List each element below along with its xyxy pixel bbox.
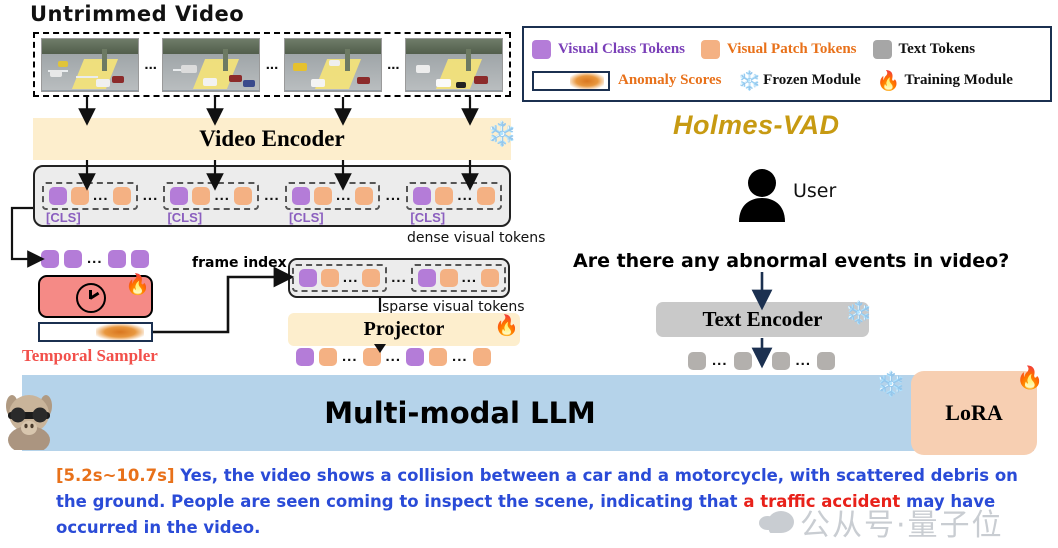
legend-box: Visual Class Tokens Visual Patch Tokens … — [522, 26, 1052, 102]
temporal-sampler-label: Temporal Sampler — [22, 346, 158, 366]
visual-patch-token — [440, 269, 458, 287]
legend-swatch-gray — [873, 40, 892, 59]
legend-row: Anomaly Scores ❄️ Frozen Module 🔥 Traini… — [532, 65, 1042, 96]
visual-class-token — [41, 250, 59, 268]
visual-patch-token — [321, 269, 339, 287]
video-frame — [162, 38, 260, 92]
visual-patch-token — [477, 187, 495, 205]
token-ellipsis: ... — [214, 187, 230, 205]
dense-visual-tokens-container: ... [CLS] ... ... [CLS] ... ... [CLS] ..… — [33, 165, 511, 227]
projector-output-token-row: ... ... ... — [296, 348, 491, 366]
video-encoder-block: Video Encoder — [33, 118, 511, 160]
cls-label: [CLS] — [289, 210, 324, 225]
llama-icon — [0, 388, 60, 450]
legend-item-training-module: 🔥 Training Module — [877, 69, 1013, 93]
frame-ellipsis: ... — [144, 56, 157, 73]
user-question: Are there any abnormal events in video? — [573, 250, 1009, 272]
group-ellipsis: ... — [264, 187, 280, 205]
text-token — [817, 352, 835, 370]
token-group: ... [CLS] — [285, 182, 381, 210]
legend-label: Training Module — [904, 72, 1013, 89]
projector-block: Projector — [288, 313, 520, 346]
fire-icon: 🔥 — [494, 313, 519, 338]
visual-patch-token — [363, 348, 381, 366]
legend-label: Visual Patch Tokens — [727, 41, 857, 58]
visual-class-token — [49, 187, 67, 205]
visual-patch-token — [319, 348, 337, 366]
video-frame — [284, 38, 382, 92]
legend-item-anomaly-scores: Anomaly Scores — [532, 71, 721, 91]
group-ellipsis: ... — [391, 269, 407, 287]
visual-class-token — [108, 250, 126, 268]
user-label: User — [793, 180, 836, 202]
legend-row: Visual Class Tokens Visual Patch Tokens … — [532, 34, 1042, 65]
snowflake-icon: ❄️ — [876, 370, 906, 399]
visual-patch-token — [113, 187, 131, 205]
legend-label: Frozen Module — [763, 72, 861, 89]
token-ellipsis: ... — [796, 352, 812, 370]
visual-patch-token — [192, 187, 210, 205]
visual-patch-token — [71, 187, 89, 205]
visual-patch-token — [234, 187, 252, 205]
visual-class-token — [131, 250, 149, 268]
visual-patch-token — [435, 187, 453, 205]
text-encoder-label: Text Encoder — [703, 307, 823, 332]
token-ellipsis: ... — [336, 187, 352, 205]
token-group: ... — [411, 264, 507, 292]
token-ellipsis: ... — [93, 187, 109, 205]
cls-label: [CLS] — [410, 210, 445, 225]
visual-patch-token — [429, 348, 447, 366]
cls-label: [CLS] — [46, 210, 81, 225]
frame-ellipsis: ... — [266, 56, 279, 73]
chat-bubble-icon — [768, 511, 794, 533]
group-ellipsis: ... — [386, 187, 402, 205]
visual-patch-token — [314, 187, 332, 205]
frame-index-label: frame index — [192, 255, 287, 271]
visual-class-token — [170, 187, 188, 205]
watermark: 公从号·量子位 — [768, 500, 1004, 544]
legend-label: Visual Class Tokens — [558, 41, 685, 58]
token-ellipsis: ... — [342, 348, 358, 366]
visual-patch-token — [481, 269, 499, 287]
fire-icon: 🔥 — [125, 272, 150, 297]
token-ellipsis: ... — [343, 269, 359, 287]
class-token-row: ... — [41, 250, 149, 268]
sparse-visual-tokens-container: ... ... ... — [288, 258, 510, 298]
fire-icon: 🔥 — [1016, 365, 1043, 391]
visual-class-token — [64, 250, 82, 268]
text-token-row: ... ... — [688, 352, 835, 370]
untrimmed-video-label: Untrimmed Video — [30, 2, 244, 26]
visual-class-token — [406, 348, 424, 366]
token-ellipsis: ... — [386, 348, 402, 366]
visual-class-token — [292, 187, 310, 205]
token-ellipsis: ... — [712, 352, 728, 370]
answer-timestamp: [5.2s~10.7s] — [56, 466, 175, 485]
token-ellipsis: ... — [462, 269, 478, 287]
text-encoder-block: Text Encoder — [656, 302, 869, 337]
visual-class-token — [299, 269, 317, 287]
cls-label: [CLS] — [167, 210, 202, 225]
snowflake-icon: ❄️ — [487, 120, 517, 149]
multimodal-llm-label: Multi-modal LLM — [0, 396, 920, 430]
legend-item-frozen-module: ❄️ Frozen Module — [737, 69, 860, 93]
snowflake-icon: ❄️ — [845, 300, 872, 326]
dense-visual-tokens-label: dense visual tokens — [407, 230, 545, 246]
clock-icon — [76, 283, 106, 313]
legend-label: Anomaly Scores — [618, 72, 721, 89]
anomaly-score-bar — [38, 322, 153, 342]
legend-anomaly-score-bar — [532, 71, 610, 91]
video-frame — [41, 38, 139, 92]
group-ellipsis: ... — [143, 187, 159, 205]
text-token — [772, 352, 790, 370]
legend-item-visual-patch-tokens: Visual Patch Tokens — [701, 40, 857, 59]
frame-ellipsis: ... — [387, 56, 400, 73]
fire-icon: 🔥 — [877, 69, 901, 93]
user-avatar-icon — [737, 168, 787, 222]
visual-class-token — [413, 187, 431, 205]
snowflake-icon: ❄️ — [737, 69, 761, 93]
legend-swatch-orange — [701, 40, 720, 59]
token-ellipsis: ... — [457, 187, 473, 205]
projector-label: Projector — [364, 318, 445, 341]
legend-swatch-purple — [532, 40, 551, 59]
lora-label: LoRA — [945, 400, 1002, 426]
visual-patch-token — [473, 348, 491, 366]
token-group: ... [CLS] — [406, 182, 502, 210]
watermark-text: 公从号·量子位 — [800, 500, 1004, 544]
video-frame-strip: ... ... ... — [33, 32, 511, 97]
visual-patch-token — [355, 187, 373, 205]
legend-label: Text Tokens — [899, 41, 976, 58]
token-group: ... [CLS] — [42, 182, 138, 210]
token-group: ... [CLS] — [163, 182, 259, 210]
visual-patch-token — [362, 269, 380, 287]
visual-class-token — [418, 269, 436, 287]
text-token — [688, 352, 706, 370]
page-title: Holmes-VAD — [673, 110, 840, 141]
token-ellipsis: ... — [452, 348, 468, 366]
text-token — [734, 352, 752, 370]
video-frame — [405, 38, 503, 92]
token-group: ... — [292, 264, 388, 292]
visual-class-token — [296, 348, 314, 366]
token-ellipsis: ... — [87, 250, 103, 268]
legend-item-visual-class-tokens: Visual Class Tokens — [532, 40, 685, 59]
legend-item-text-tokens: Text Tokens — [873, 40, 976, 59]
video-encoder-label: Video Encoder — [199, 126, 344, 152]
